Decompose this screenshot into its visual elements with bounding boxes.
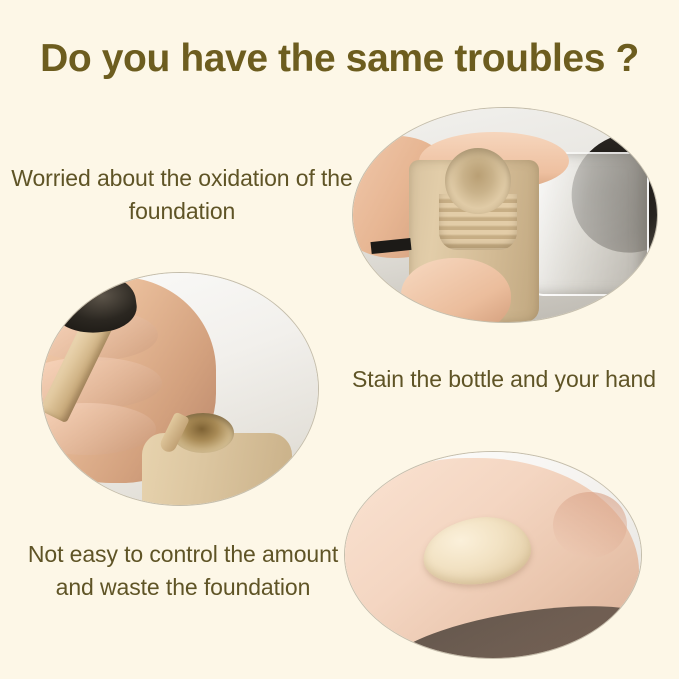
photo-foundation-drop-on-back-of-hand <box>345 452 641 658</box>
finger-fold <box>553 492 627 558</box>
page-title: Do you have the same troubles ? <box>0 36 679 82</box>
photo-bottle-neck-inner <box>353 108 657 322</box>
caption-waste: Not easy to control the amount and waste… <box>18 538 348 604</box>
caption-stain: Stain the bottle and your hand <box>344 363 664 396</box>
product-problem-poster: Do you have the same troubles ? Worried … <box>0 0 679 679</box>
photo-swatch-inner <box>345 452 641 658</box>
photo-dropper-inner <box>42 273 318 505</box>
bottle-neck-opening <box>445 148 511 214</box>
photo-open-foundation-bottle-in-hand <box>353 108 657 322</box>
caption-oxidation: Worried about the oxidation of the found… <box>8 162 356 228</box>
photo-dropper-over-foundation-bottle <box>42 273 318 505</box>
